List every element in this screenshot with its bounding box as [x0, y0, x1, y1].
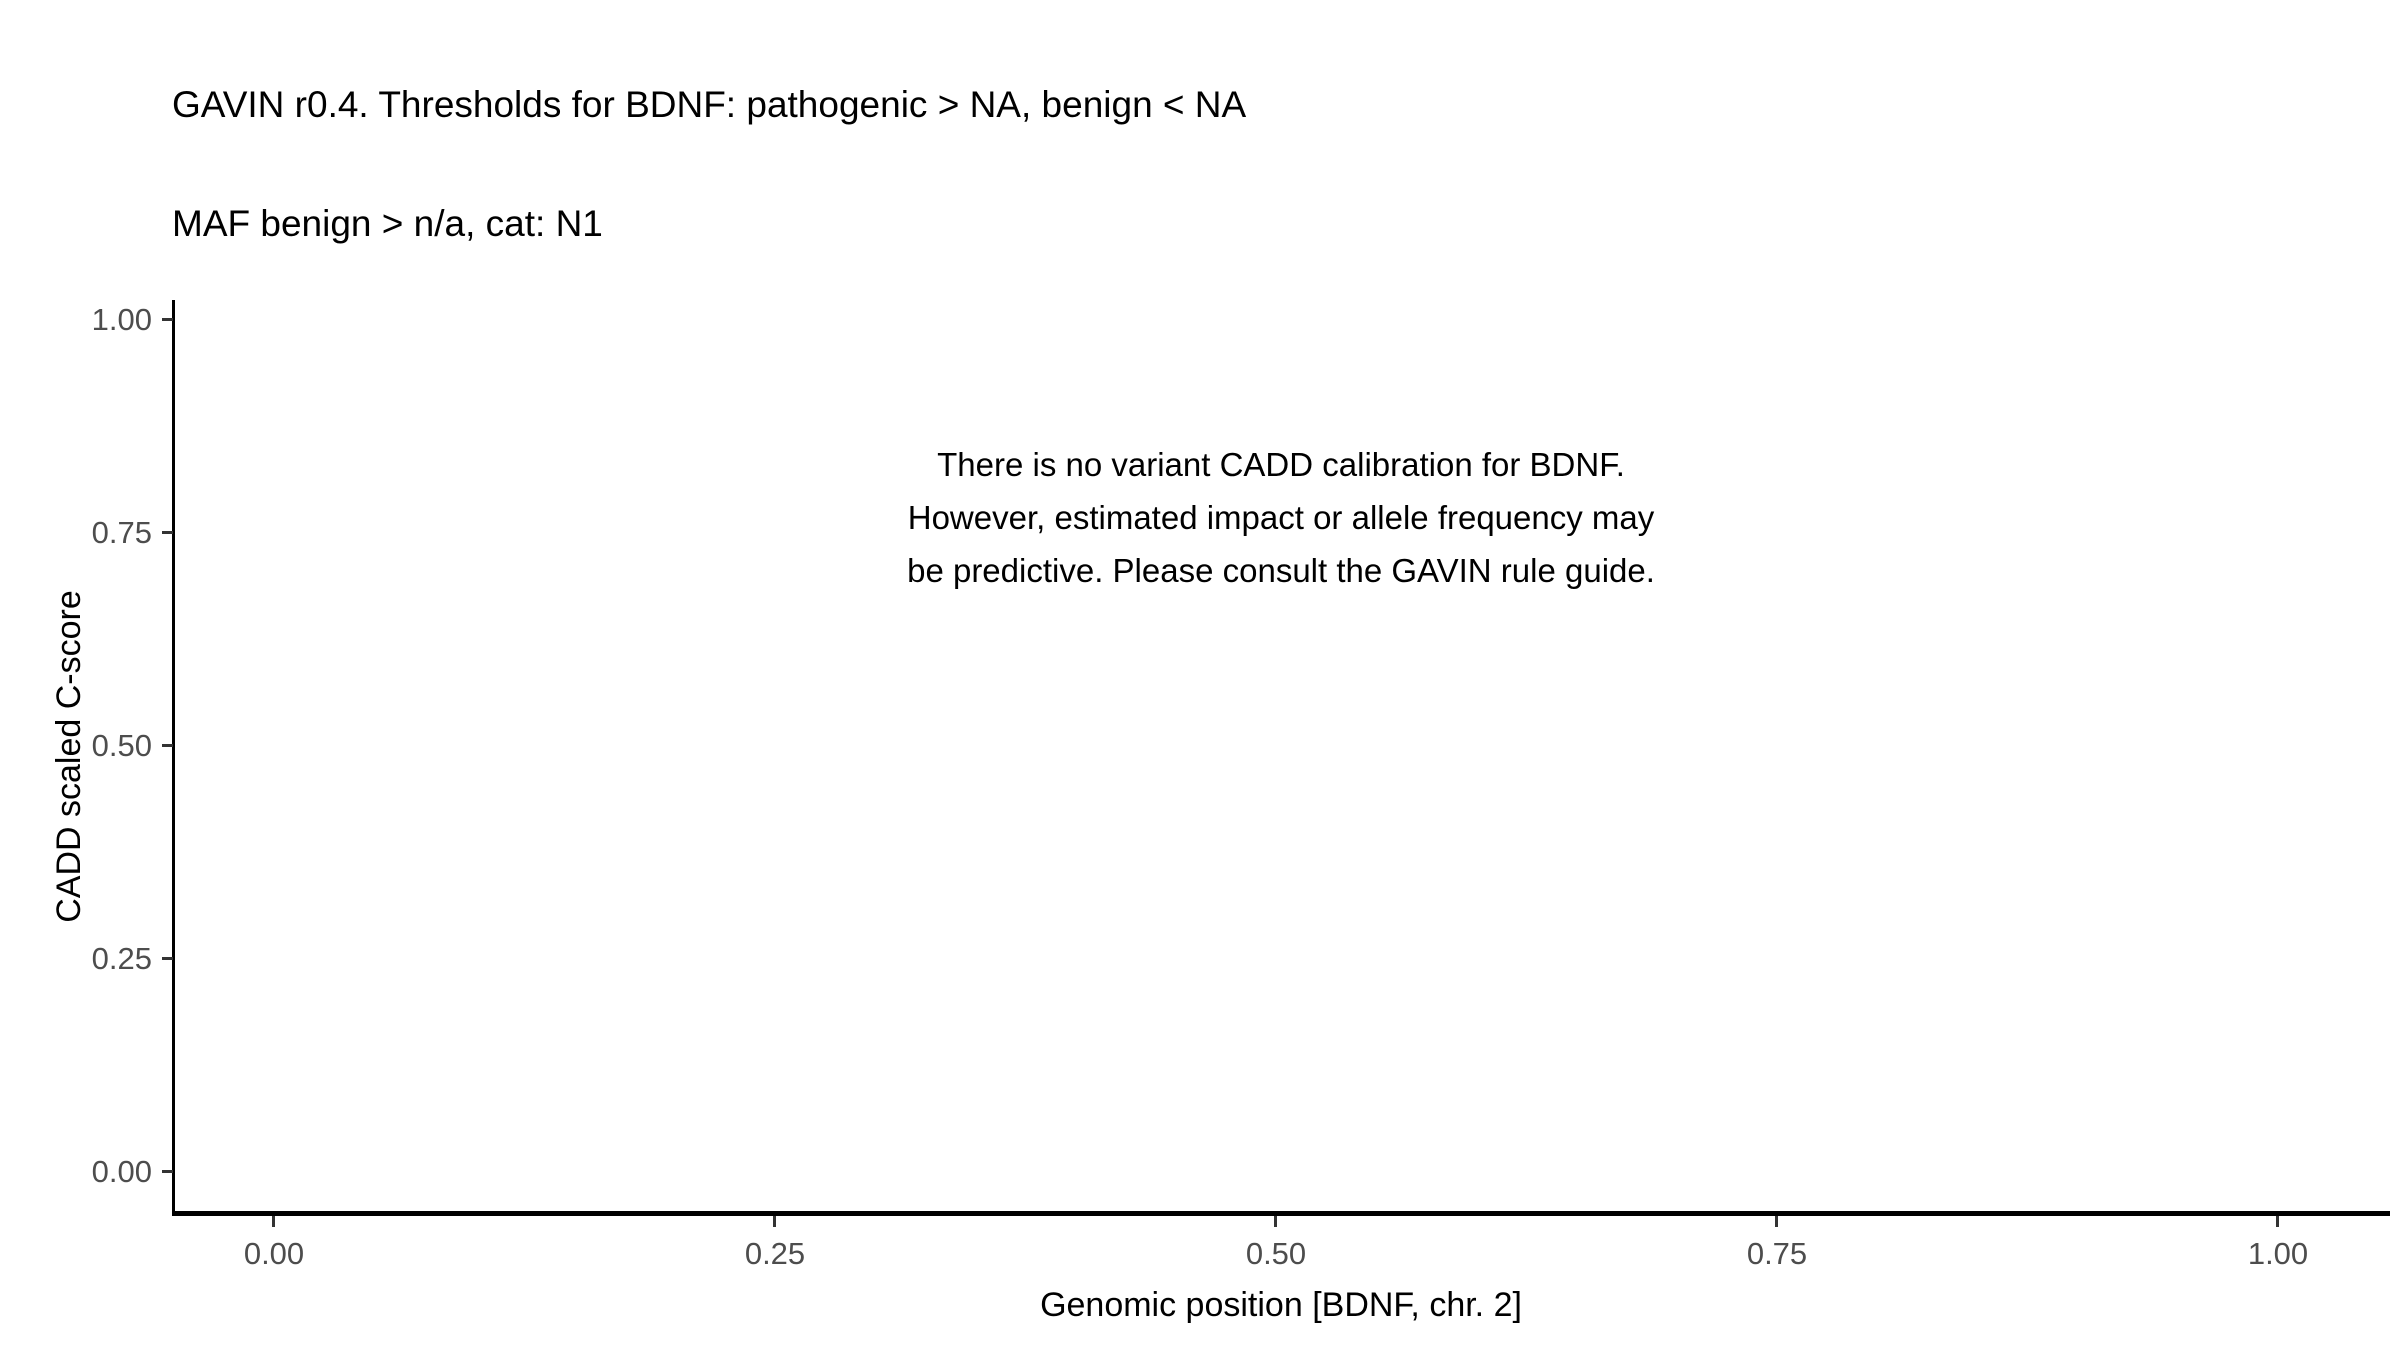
y-axis-line: [172, 300, 175, 1216]
y-axis-title: CADD scaled C-score: [46, 300, 92, 1213]
x-axis-tick-3: [1775, 1216, 1778, 1227]
x-axis-ticklabel-3: 0.75: [1747, 1238, 1807, 1269]
y-axis-ticklabel-1: 0.25: [92, 943, 152, 974]
y-axis-tick-1: [162, 957, 173, 960]
x-axis-title: Genomic position [BDNF, chr. 2]: [172, 1286, 2390, 1324]
x-axis-ticklabel-4: 1.00: [2248, 1238, 2308, 1269]
y-axis-tick-2: [162, 744, 173, 747]
y-axis-ticklabel-2: 0.50: [92, 730, 152, 761]
y-axis-ticklabel-4: 1.00: [92, 304, 152, 335]
panel-annotation-line-2: However, estimated impact or allele freq…: [172, 491, 2390, 544]
x-axis-tick-2: [1274, 1216, 1277, 1227]
x-axis-line: [172, 1211, 2390, 1216]
plot-root: GAVIN r0.4. Thresholds for BDNF: pathoge…: [0, 0, 2400, 1350]
x-axis-tick-1: [773, 1216, 776, 1227]
x-axis-tick-4: [2276, 1216, 2279, 1227]
x-axis-tick-0: [272, 1216, 275, 1227]
y-axis-tick-3: [162, 531, 173, 534]
y-axis-ticklabel-3: 0.75: [92, 517, 152, 548]
plot-panel: There is no variant CADD calibration for…: [172, 300, 2390, 1213]
x-axis-ticklabel-2: 0.50: [1246, 1238, 1306, 1269]
plot-title-line-1: GAVIN r0.4. Thresholds for BDNF: pathoge…: [172, 85, 2352, 125]
panel-annotation: There is no variant CADD calibration for…: [172, 438, 2390, 597]
x-axis-ticklabel-1: 0.25: [745, 1238, 805, 1269]
panel-annotation-line-3: be predictive. Please consult the GAVIN …: [172, 544, 2390, 597]
y-axis-tick-4: [162, 318, 173, 321]
y-axis-ticklabel-0: 0.00: [92, 1156, 152, 1187]
panel-annotation-line-1: There is no variant CADD calibration for…: [172, 438, 2390, 491]
x-axis-ticklabel-0: 0.00: [244, 1238, 304, 1269]
plot-title-line-2: MAF benign > n/a, cat: N1: [172, 204, 2352, 244]
y-axis-tick-0: [162, 1170, 173, 1173]
